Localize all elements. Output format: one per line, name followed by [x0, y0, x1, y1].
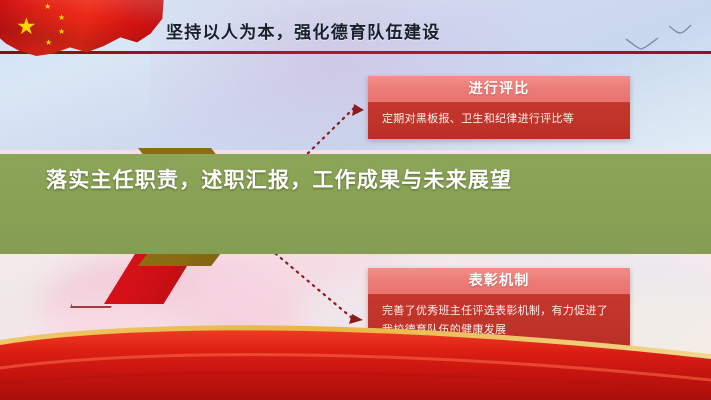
info-card-title: 表彰机制: [368, 268, 630, 294]
info-card[interactable]: 进行评比 定期对黑板报、卫生和纪律进行评比等: [368, 76, 630, 139]
page-title: 坚持以人为本，强化德育队伍建设: [166, 18, 441, 43]
slide-canvas: ★ ★ ★ ★ ★ 坚持以人为本，强化德育队伍建设 进行评比 定期对黑板报、卫生…: [0, 0, 711, 400]
caption-text: 落实主任职责，述职汇报，工作成果与未来展望: [46, 165, 676, 196]
info-card-title: 进行评比: [368, 76, 630, 102]
arrow-head-up: [352, 104, 364, 116]
info-card-body: 定期对黑板报、卫生和纪律进行评比等: [368, 102, 630, 139]
red-ribbon-wave: [0, 310, 711, 400]
ribbon-main: [0, 330, 711, 400]
